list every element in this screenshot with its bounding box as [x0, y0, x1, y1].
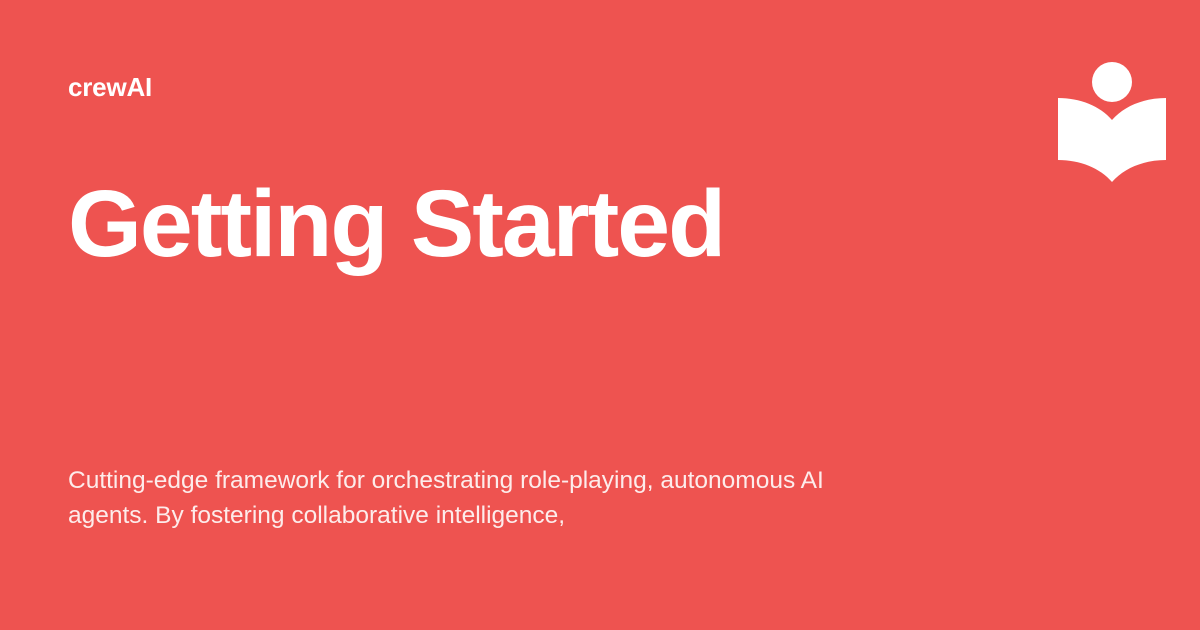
open-book-reader-icon — [1054, 56, 1170, 196]
title-block: Getting Started — [68, 177, 1132, 272]
card-header: crewAI — [68, 68, 1132, 103]
page-description: Cutting-edge framework for orchestrating… — [68, 463, 868, 562]
page-title: Getting Started — [68, 177, 1132, 272]
layout-spacer — [68, 272, 1132, 463]
brand-logo-text: crewAI — [68, 68, 152, 103]
og-preview-card: crewAI Getting Started Cutting-edge fram… — [0, 0, 1200, 630]
